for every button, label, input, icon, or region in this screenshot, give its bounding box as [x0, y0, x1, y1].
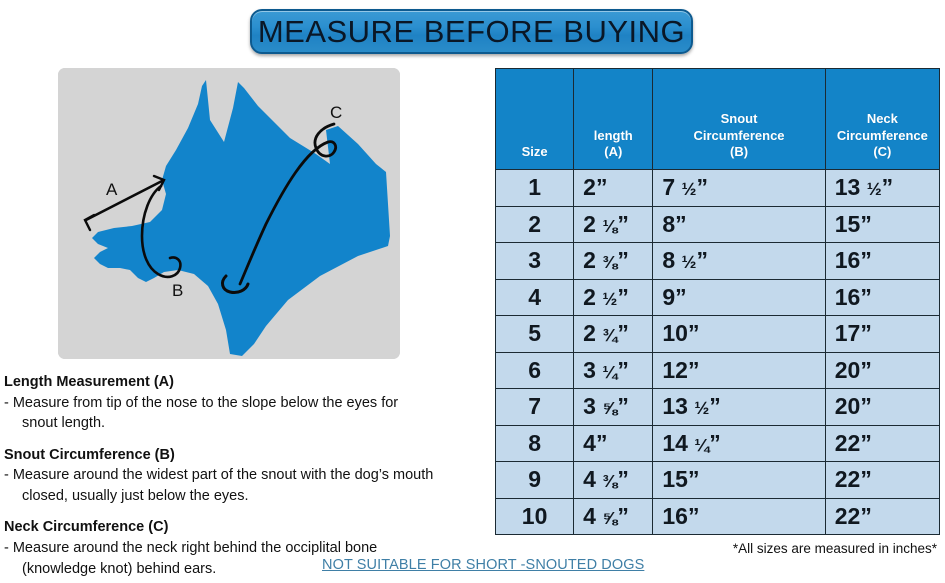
instruction-neck-heading: Neck Circumference (C): [4, 517, 490, 538]
col-header-neck-circumference: Neck Circumference (C): [825, 69, 939, 170]
cell-length: 3 ⅝”: [574, 389, 653, 426]
table-row: 84”14 ¼”22”: [496, 425, 940, 462]
value-whole: 10: [662, 320, 688, 346]
value-unit: ”: [596, 430, 608, 456]
cell-length: 2”: [574, 170, 653, 207]
table-row: 94 ⅜”15”22”: [496, 462, 940, 499]
value-unit: ”: [860, 211, 872, 237]
value-whole: 4: [583, 430, 596, 456]
value-unit: ”: [617, 284, 629, 310]
cell-length: 3 ¼”: [574, 352, 653, 389]
value-unit: ”: [882, 174, 894, 200]
cell-snout-circumference: 8”: [653, 206, 825, 243]
value-fraction: ⅜: [602, 252, 617, 272]
value-whole: 20: [835, 393, 861, 419]
value-unit: ”: [860, 393, 872, 419]
size-chart-table: Size length (A) Snout Circumference (B) …: [495, 68, 940, 535]
value-whole: 3: [583, 393, 596, 419]
value-unit: ”: [697, 174, 709, 200]
value-whole: 15: [662, 466, 688, 492]
cell-length: 2 ½”: [574, 279, 653, 316]
value-unit: ”: [860, 284, 872, 310]
value-whole: 3: [583, 357, 596, 383]
instruction-snout-line2: closed, usually just below the eyes.: [8, 486, 490, 507]
value-whole: 22: [835, 503, 861, 529]
page-title: MEASURE BEFORE BUYING: [258, 14, 685, 50]
instruction-snout: Snout Circumference (B) - Measure around…: [4, 445, 490, 507]
value-whole: 16: [835, 284, 861, 310]
value-unit: ”: [860, 247, 872, 273]
cell-neck-circumference: 15”: [825, 206, 939, 243]
value-unit: ”: [688, 466, 700, 492]
value-unit: ”: [860, 357, 872, 383]
value-whole: 9: [662, 284, 675, 310]
value-unit: ”: [617, 357, 629, 383]
value-unit: ”: [675, 211, 687, 237]
col-header-length: length (A): [574, 69, 653, 170]
value-whole: 2: [583, 211, 596, 237]
cell-size: 7: [496, 389, 574, 426]
value-fraction: ½: [694, 398, 709, 418]
value-whole: 7: [662, 174, 675, 200]
value-unit: ”: [688, 357, 700, 383]
value-fraction: ¼: [694, 435, 709, 455]
table-row: 32 ⅜”8 ½”16”: [496, 243, 940, 280]
value-whole: 4: [583, 466, 596, 492]
table-row: 42 ½”9”16”: [496, 279, 940, 316]
value-unit: ”: [709, 393, 721, 419]
cell-neck-circumference: 13 ½”: [825, 170, 939, 207]
value-unit: ”: [596, 174, 608, 200]
value-whole: 17: [835, 320, 861, 346]
table-row: 12”7 ½”13 ½”: [496, 170, 940, 207]
cell-length: 2 ¾”: [574, 316, 653, 353]
value-whole: 8: [662, 211, 675, 237]
value-whole: 16: [662, 503, 688, 529]
instruction-length: Length Measurement (A) - Measure from ti…: [4, 372, 490, 434]
cell-snout-circumference: 15”: [653, 462, 825, 499]
cell-size: 9: [496, 462, 574, 499]
value-unit: ”: [860, 320, 872, 346]
cell-neck-circumference: 22”: [825, 498, 939, 535]
value-unit: ”: [860, 430, 872, 456]
value-whole: 13: [835, 174, 861, 200]
value-whole: 2: [583, 174, 596, 200]
value-fraction: ¼: [602, 362, 617, 382]
col-header-snout-circumference: Snout Circumference (B): [653, 69, 825, 170]
value-fraction: ½: [867, 179, 882, 199]
value-whole: 4: [583, 503, 596, 529]
value-fraction: ⅝: [602, 508, 617, 528]
instruction-length-heading: Length Measurement (A): [4, 372, 490, 393]
value-fraction: ⅝: [602, 398, 617, 418]
cell-size: 3: [496, 243, 574, 280]
table-row: 52 ¾”10”17”: [496, 316, 940, 353]
value-unit: ”: [860, 503, 872, 529]
instruction-neck-line1: - Measure around the neck right behind t…: [4, 538, 490, 559]
cell-neck-circumference: 16”: [825, 243, 939, 280]
value-unit: ”: [617, 503, 629, 529]
label-c: C: [330, 103, 342, 122]
units-note: *All sizes are measured in inches*: [733, 541, 937, 556]
cell-snout-circumference: 9”: [653, 279, 825, 316]
value-whole: 22: [835, 430, 861, 456]
value-unit: ”: [709, 430, 721, 456]
cell-size: 1: [496, 170, 574, 207]
value-fraction: ¾: [602, 325, 617, 345]
page-title-banner: MEASURE BEFORE BUYING: [250, 9, 693, 54]
cell-size: 6: [496, 352, 574, 389]
value-fraction: ⅜: [602, 471, 617, 491]
size-chart-body: 12”7 ½”13 ½”22 ⅛”8”15”32 ⅜”8 ½”16”42 ½”9…: [496, 170, 940, 535]
instruction-length-line2: snout length.: [8, 413, 490, 434]
value-whole: 2: [583, 284, 596, 310]
instruction-snout-heading: Snout Circumference (B): [4, 445, 490, 466]
cell-size: 10: [496, 498, 574, 535]
cell-size: 5: [496, 316, 574, 353]
cell-snout-circumference: 8 ½”: [653, 243, 825, 280]
value-unit: ”: [675, 284, 687, 310]
value-unit: ”: [617, 393, 629, 419]
value-unit: ”: [617, 320, 629, 346]
value-whole: 22: [835, 466, 861, 492]
value-fraction: ½: [682, 252, 697, 272]
label-b: B: [172, 281, 183, 300]
value-whole: 12: [662, 357, 688, 383]
value-unit: ”: [617, 211, 629, 237]
cell-neck-circumference: 16”: [825, 279, 939, 316]
cell-neck-circumference: 20”: [825, 352, 939, 389]
value-whole: 16: [835, 247, 861, 273]
value-whole: 8: [662, 247, 675, 273]
cell-length: 2 ⅜”: [574, 243, 653, 280]
cell-snout-circumference: 12”: [653, 352, 825, 389]
col-header-size: Size: [496, 69, 574, 170]
dog-head-measurement-diagram: A B C: [58, 68, 400, 359]
table-row: 22 ⅛”8”15”: [496, 206, 940, 243]
cell-length: 4”: [574, 425, 653, 462]
value-fraction: ½: [682, 179, 697, 199]
value-fraction: ⅛: [602, 216, 617, 236]
label-a: A: [106, 180, 118, 199]
cell-neck-circumference: 17”: [825, 316, 939, 353]
cell-size: 4: [496, 279, 574, 316]
table-header-row: Size length (A) Snout Circumference (B) …: [496, 69, 940, 170]
value-fraction: ½: [602, 289, 617, 309]
cell-neck-circumference: 22”: [825, 425, 939, 462]
table-row: 104 ⅝”16”22”: [496, 498, 940, 535]
value-unit: ”: [860, 466, 872, 492]
value-whole: 20: [835, 357, 861, 383]
value-unit: ”: [697, 247, 709, 273]
instructions-block: Length Measurement (A) - Measure from ti…: [4, 372, 490, 579]
value-unit: ”: [617, 466, 629, 492]
instruction-snout-line1: - Measure around the widest part of the …: [4, 465, 490, 486]
value-whole: 13: [662, 393, 688, 419]
value-whole: 2: [583, 320, 596, 346]
value-whole: 2: [583, 247, 596, 273]
value-unit: ”: [688, 320, 700, 346]
cell-snout-circumference: 14 ¼”: [653, 425, 825, 462]
cell-snout-circumference: 10”: [653, 316, 825, 353]
value-unit: ”: [688, 503, 700, 529]
cell-snout-circumference: 7 ½”: [653, 170, 825, 207]
cell-snout-circumference: 13 ½”: [653, 389, 825, 426]
value-whole: 14: [662, 430, 688, 456]
cell-size: 2: [496, 206, 574, 243]
cell-snout-circumference: 16”: [653, 498, 825, 535]
cell-length: 4 ⅝”: [574, 498, 653, 535]
cell-length: 2 ⅛”: [574, 206, 653, 243]
size-chart: Size length (A) Snout Circumference (B) …: [495, 68, 940, 534]
instruction-length-line1: - Measure from tip of the nose to the sl…: [4, 393, 490, 414]
value-whole: 15: [835, 211, 861, 237]
value-unit: ”: [617, 247, 629, 273]
cell-size: 8: [496, 425, 574, 462]
cell-neck-circumference: 20”: [825, 389, 939, 426]
table-row: 63 ¼”12”20”: [496, 352, 940, 389]
not-suitable-warning: NOT SUITABLE FOR SHORT -SNOUTED DOGS: [322, 557, 644, 573]
cell-length: 4 ⅜”: [574, 462, 653, 499]
cell-neck-circumference: 22”: [825, 462, 939, 499]
table-row: 73 ⅝”13 ½”20”: [496, 389, 940, 426]
